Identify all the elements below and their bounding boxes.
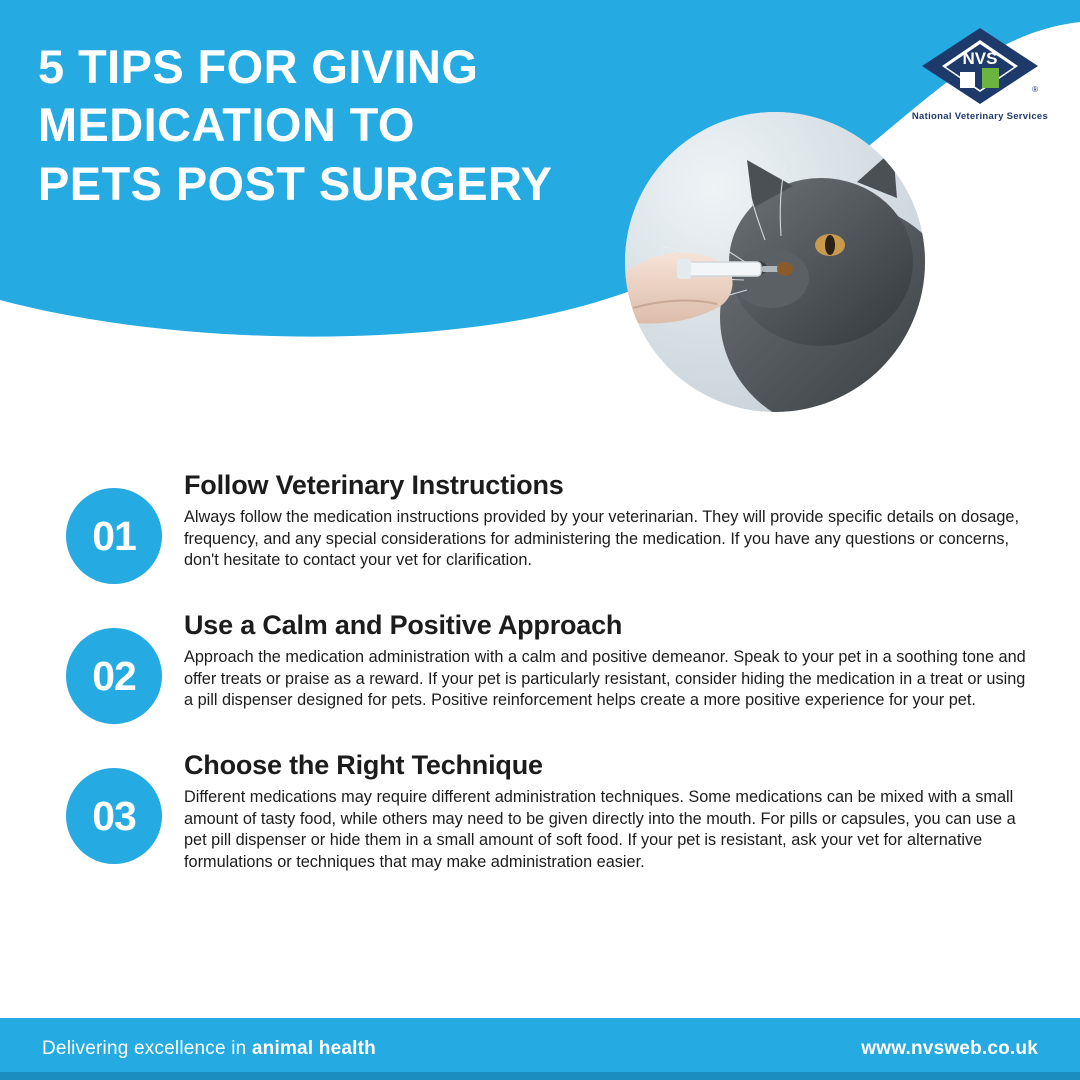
- logo-caption: National Veterinary Services: [910, 111, 1050, 122]
- footer-tagline-bold: animal health: [252, 1038, 376, 1059]
- nvs-logo: NVS ® National Veterinary Services: [910, 26, 1050, 122]
- tip-body: Approach the medication administration w…: [184, 647, 1030, 712]
- tip-heading: Choose the Right Technique: [184, 750, 1030, 781]
- hero-photo: [625, 112, 925, 412]
- tip-heading: Follow Veterinary Instructions: [184, 470, 1030, 501]
- tip-number-badge: 02: [66, 628, 162, 724]
- footer-accent-strip: [0, 1072, 1080, 1080]
- tip-body: Different medications may require differ…: [184, 787, 1030, 873]
- page-title: 5 TIPS FOR GIVING MEDICATION TO PETS POS…: [38, 38, 658, 213]
- tip-number-badge: 03: [66, 768, 162, 864]
- title-line-3: PETS POST SURGERY: [38, 157, 552, 210]
- logo-diamond-icon: NVS ®: [920, 26, 1040, 106]
- tip-item: 02 Use a Calm and Positive Approach Appr…: [0, 610, 1080, 720]
- footer-tagline: Delivering excellence in animal health: [42, 1038, 376, 1060]
- tip-item: 03 Choose the Right Technique Different …: [0, 750, 1080, 873]
- tips-list: 01 Follow Veterinary Instructions Always…: [0, 470, 1080, 903]
- footer-bar: Delivering excellence in animal health w…: [0, 1018, 1080, 1080]
- tip-number-badge: 01: [66, 488, 162, 584]
- title-line-2: MEDICATION TO: [38, 98, 415, 151]
- logo-abbr-text: NVS: [963, 49, 998, 68]
- title-line-1: 5 TIPS FOR GIVING: [38, 40, 478, 93]
- tip-item: 01 Follow Veterinary Instructions Always…: [0, 470, 1080, 580]
- footer-website[interactable]: www.nvsweb.co.uk: [861, 1038, 1038, 1060]
- footer-tagline-plain: Delivering excellence in: [42, 1038, 252, 1059]
- registered-mark: ®: [1032, 85, 1038, 94]
- tip-heading: Use a Calm and Positive Approach: [184, 610, 1030, 641]
- tip-body: Always follow the medication instruction…: [184, 507, 1030, 572]
